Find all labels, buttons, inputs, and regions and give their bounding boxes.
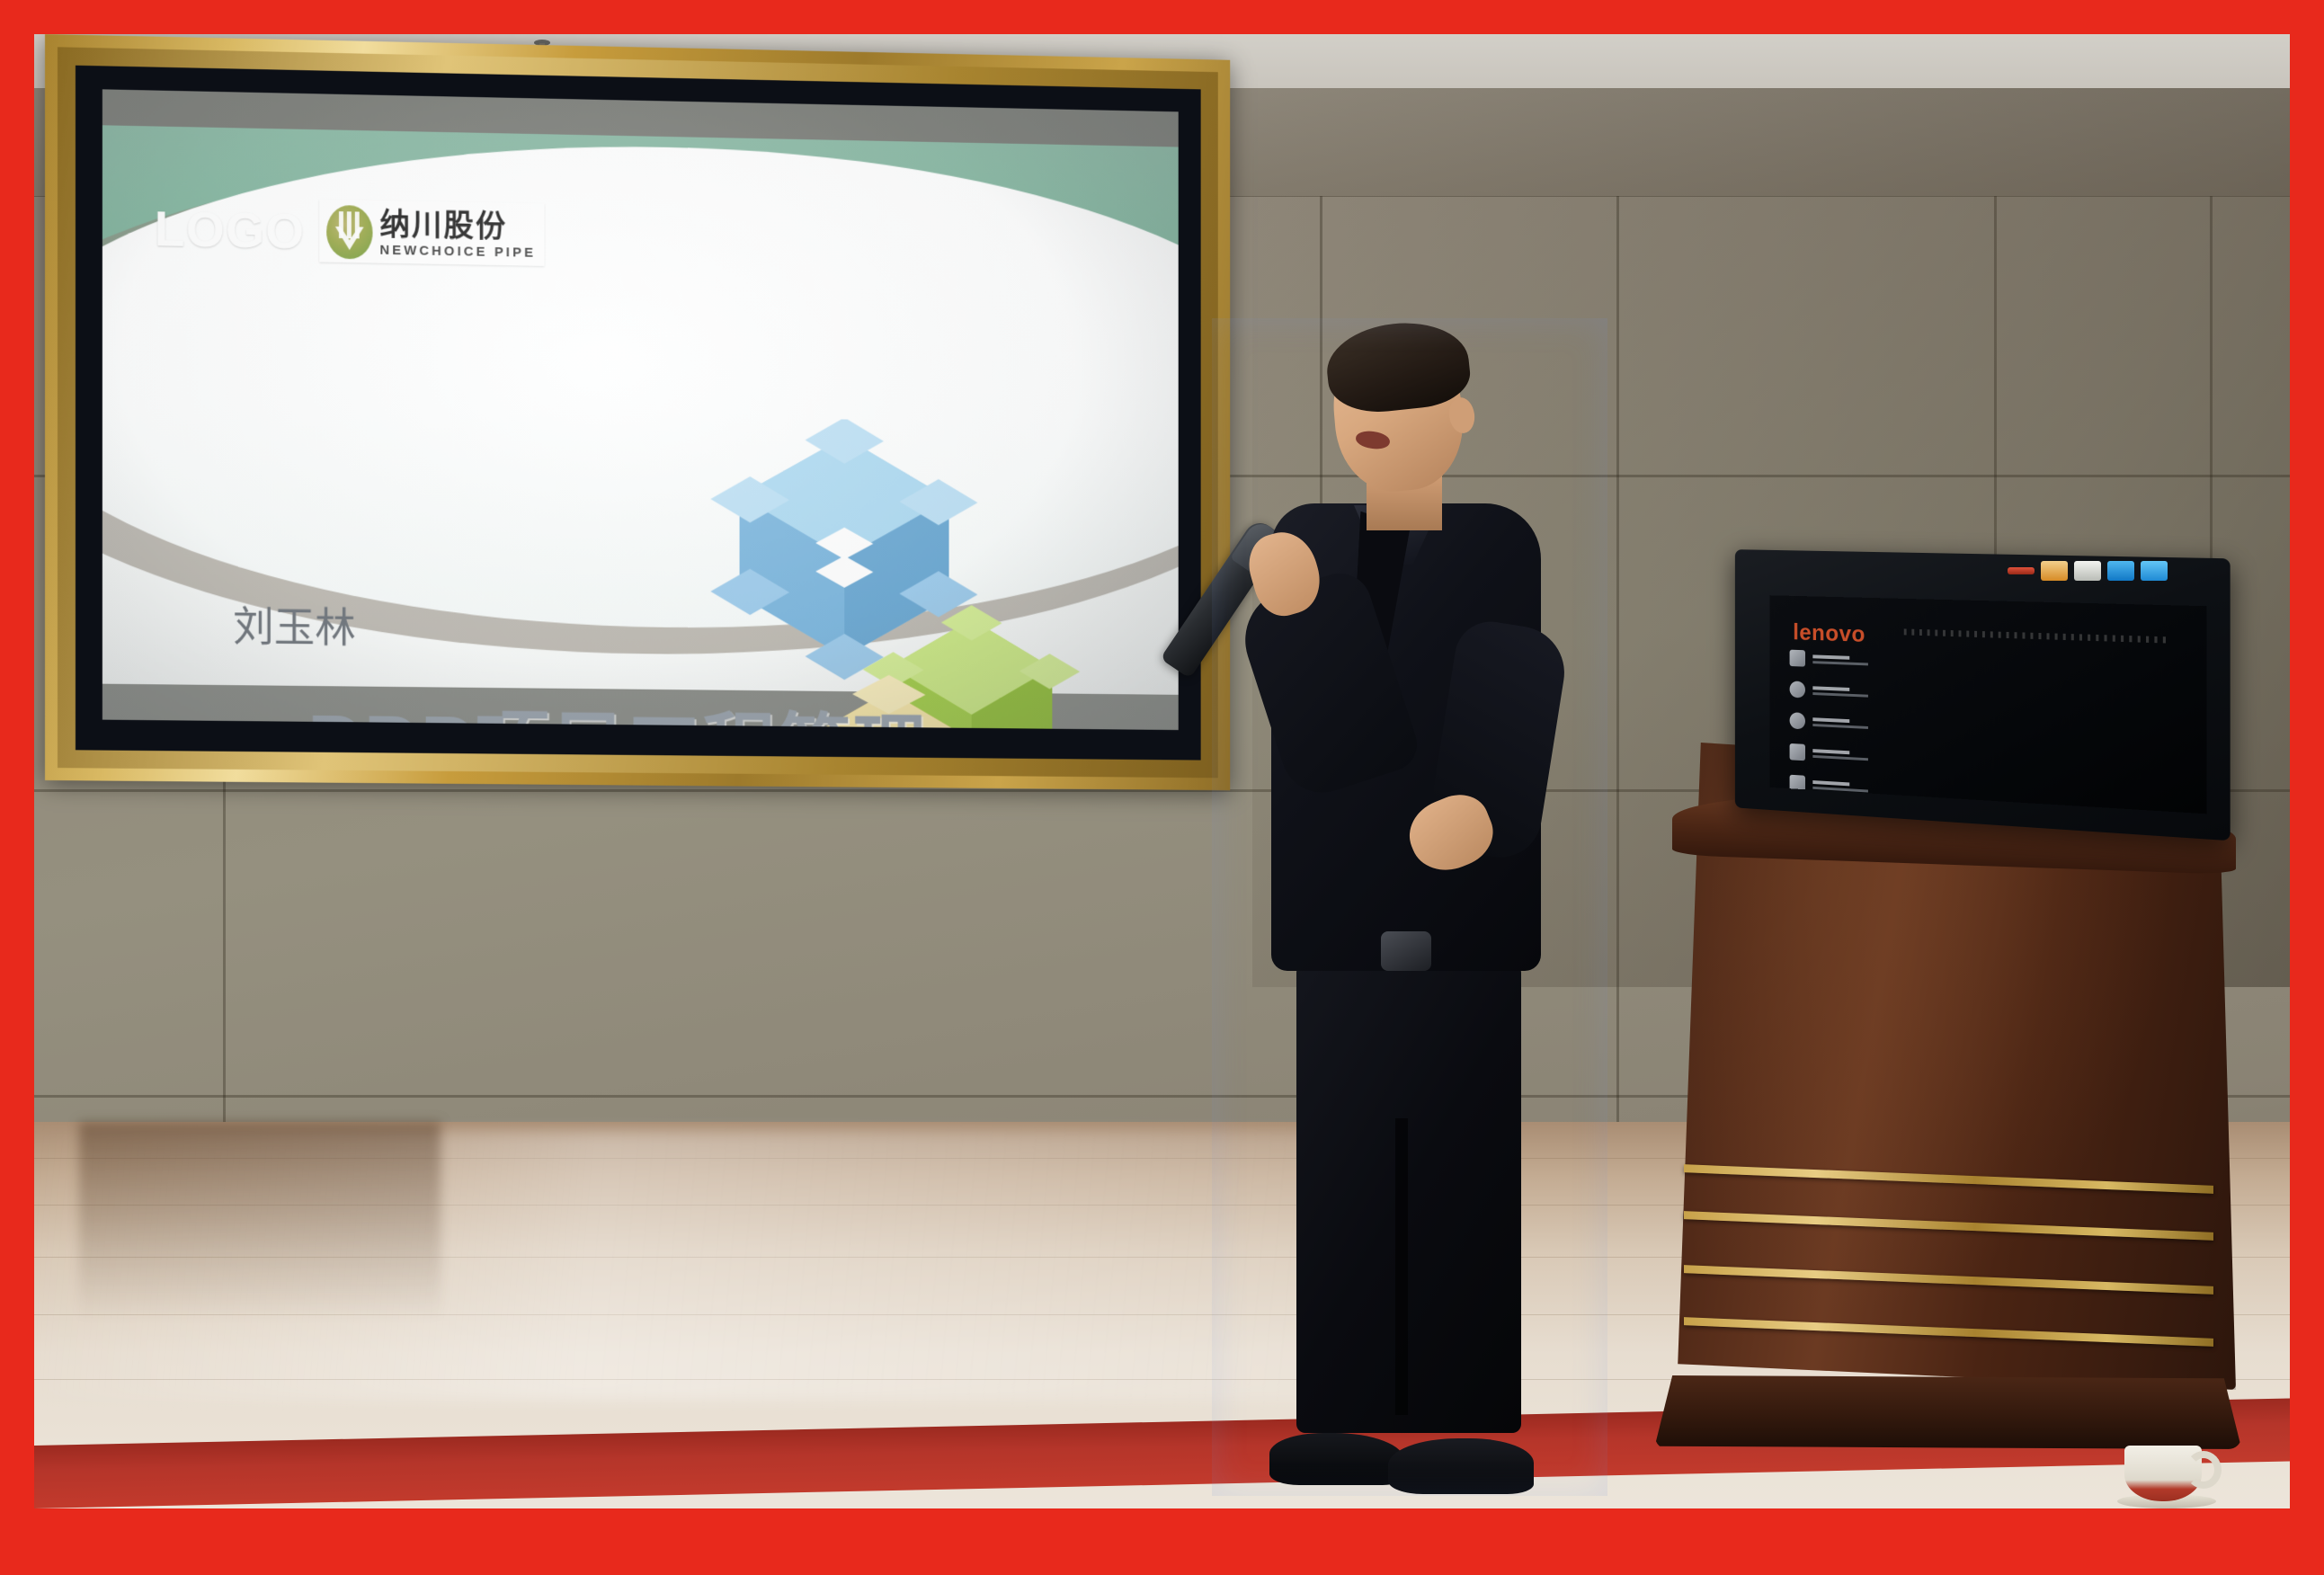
lenovo-monitor[interactable]: lenovo bbox=[1720, 554, 2223, 823]
slide-presenter-name: 刘玉林 bbox=[233, 593, 356, 654]
display-icon bbox=[1790, 650, 1805, 667]
image-icon bbox=[1790, 712, 1805, 729]
menu-key[interactable] bbox=[2041, 561, 2068, 581]
settings-icon bbox=[1790, 681, 1805, 698]
back-key[interactable] bbox=[2074, 561, 2101, 581]
screen-bezel: LOGO 纳川股份 NEWCHOICE PIPE bbox=[76, 66, 1201, 761]
lenovo-brand-logo: lenovo bbox=[1793, 618, 1865, 648]
osd-item-image[interactable] bbox=[1790, 712, 1960, 737]
isometric-puzzle-gears bbox=[700, 417, 1075, 730]
projection-surface: LOGO 纳川股份 NEWCHOICE PIPE bbox=[102, 89, 1179, 730]
left-key[interactable] bbox=[2107, 561, 2134, 581]
teacup-icon bbox=[2117, 1428, 2225, 1508]
conference-hall-scene: LOGO 纳川股份 NEWCHOICE PIPE bbox=[34, 34, 2290, 1508]
osd-item-display[interactable] bbox=[1790, 650, 1960, 672]
logo-word: LOGO bbox=[155, 199, 306, 260]
company-logo-card: 纳川股份 NEWCHOICE PIPE bbox=[319, 200, 545, 266]
nachuan-shield-icon bbox=[326, 205, 372, 260]
monitor-osd-key-row[interactable] bbox=[2008, 561, 2168, 581]
presenter-shoe-left bbox=[1269, 1433, 1404, 1485]
osd-item-input[interactable] bbox=[1790, 743, 1960, 770]
floor-reflection bbox=[79, 1122, 440, 1320]
presenter-person bbox=[1221, 327, 1598, 1487]
osd-item-setup[interactable] bbox=[1790, 681, 1960, 705]
cup-handle bbox=[2186, 1451, 2222, 1489]
leg-seam bbox=[1395, 1118, 1408, 1415]
presenter-legs bbox=[1296, 957, 1521, 1433]
slide-title: PPP项目工程管理 bbox=[306, 684, 928, 730]
monitor-screen[interactable]: lenovo bbox=[1770, 595, 2207, 814]
right-key[interactable] bbox=[2141, 561, 2168, 581]
photo-red-border: LOGO 纳川股份 NEWCHOICE PIPE bbox=[0, 0, 2324, 1575]
slide-logo-block: LOGO 纳川股份 NEWCHOICE PIPE bbox=[155, 196, 545, 266]
presenter-shoe-right bbox=[1388, 1438, 1534, 1494]
company-name-en: NEWCHOICE PIPE bbox=[379, 243, 536, 259]
company-name-cn: 纳川股份 bbox=[379, 209, 536, 243]
lectern-podium: lenovo bbox=[1661, 554, 2236, 1453]
projection-screen-frame: LOGO 纳川股份 NEWCHOICE PIPE bbox=[45, 34, 1230, 790]
presenter-belt bbox=[1381, 931, 1431, 971]
input-icon bbox=[1790, 743, 1805, 761]
monitor-dot-row bbox=[1904, 628, 2168, 643]
power-key[interactable] bbox=[2008, 567, 2035, 574]
monitor-osd-menu[interactable] bbox=[1790, 650, 1960, 814]
presentation-slide[interactable]: LOGO 纳川股份 NEWCHOICE PIPE bbox=[102, 89, 1179, 730]
